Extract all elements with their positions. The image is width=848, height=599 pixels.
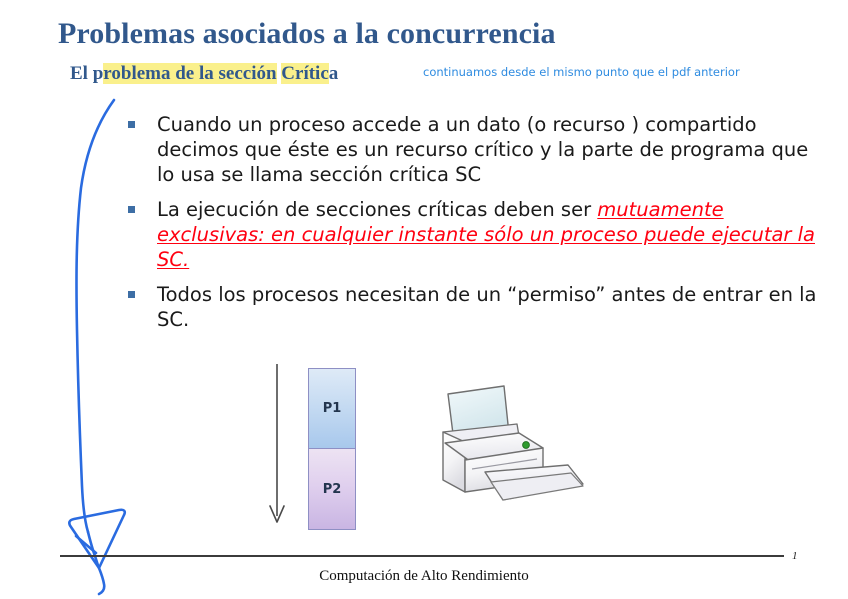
annotation-note: continuamos desde el mismo punto que el … xyxy=(423,65,740,80)
printer-icon xyxy=(425,372,600,527)
bullet-text-lead: La ejecución de secciones críticas deben… xyxy=(157,198,597,221)
footer-divider xyxy=(60,555,784,557)
list-item: La ejecución de secciones críticas deben… xyxy=(128,197,818,272)
footer-text: Computación de Alto Rendimiento xyxy=(0,568,848,585)
subtitle-segment-plain-1: El p xyxy=(70,63,103,84)
process-label: P1 xyxy=(323,401,342,416)
process-stack: P1 P2 xyxy=(308,368,356,530)
slide-canvas: Problemas asociados a la concurrencia El… xyxy=(0,0,848,599)
square-bullet-icon xyxy=(128,121,135,128)
page-title: Problemas asociados a la concurrencia xyxy=(58,17,818,51)
bullet-text: Todos los procesos necesitan de un “perm… xyxy=(157,283,817,331)
bullet-list: Cuando un proceso accede a un dato (o re… xyxy=(128,112,818,342)
subtitle-segment-plain-3: a xyxy=(329,63,339,84)
slide-subtitle: El problema de la sección Crítica xyxy=(70,62,338,85)
process-cell-p2: P2 xyxy=(309,449,355,529)
down-arrow-icon xyxy=(255,360,295,535)
list-item: Cuando un proceso accede a un dato (o re… xyxy=(128,112,818,187)
process-cell-p1: P1 xyxy=(309,369,355,449)
square-bullet-icon xyxy=(128,291,135,298)
page-number: 1 xyxy=(792,550,798,562)
square-bullet-icon xyxy=(128,206,135,213)
bullet-text: La ejecución de secciones críticas deben… xyxy=(157,198,815,271)
subtitle-segment-highlight-2: Crític xyxy=(281,63,328,84)
bullet-text: Cuando un proceso accede a un dato (o re… xyxy=(157,113,808,186)
list-item: Todos los procesos necesitan de un “perm… xyxy=(128,282,818,332)
subtitle-segment-highlight-1: roblema de la sección xyxy=(103,63,276,84)
printer-status-led-icon xyxy=(523,442,530,449)
process-label: P2 xyxy=(323,482,342,497)
